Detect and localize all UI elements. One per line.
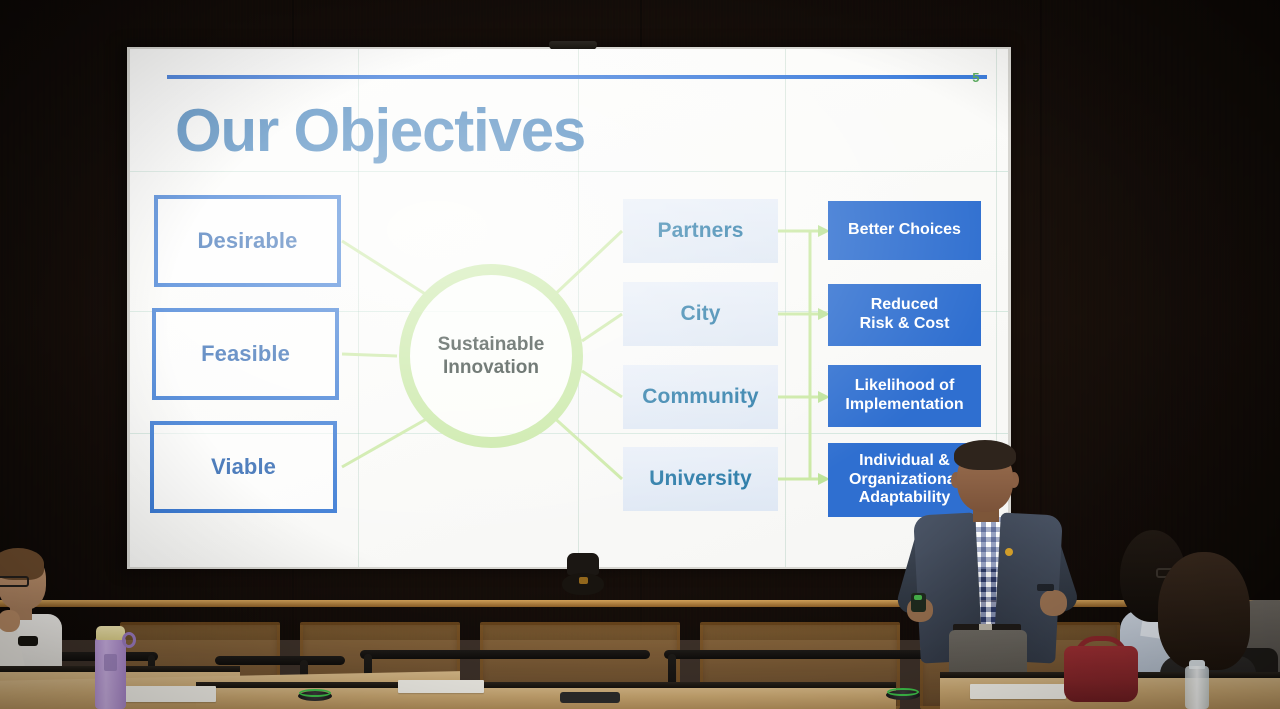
criteria-label: Desirable	[198, 228, 298, 254]
lapel-pin-icon	[1005, 548, 1013, 556]
bench-silhouette	[360, 650, 650, 659]
outcome-box-likelihood-implementation[interactable]: Likelihood ofImplementation	[828, 365, 981, 427]
wainscot-rail	[0, 600, 1280, 607]
handbag-icon	[1064, 646, 1138, 702]
criteria-box-feasible[interactable]: Feasible	[152, 308, 339, 400]
criteria-box-desirable[interactable]: Desirable	[154, 195, 341, 287]
bottle-label	[104, 654, 117, 671]
bottle-strap	[122, 632, 136, 648]
stakeholder-box-partners[interactable]: Partners	[623, 199, 778, 263]
stakeholder-label: City	[680, 302, 720, 326]
outcome-box-reduced-risk-cost[interactable]: ReducedRisk & Cost	[828, 284, 981, 346]
center-circle-sustainable-innovation[interactable]: Sustainable Innovation	[399, 264, 583, 448]
bench-silhouette	[664, 650, 944, 659]
audience-hand	[0, 610, 20, 632]
center-line-1: Sustainable	[438, 333, 545, 356]
stakeholder-box-community[interactable]: Community	[623, 365, 778, 429]
outcome-box-better-choices[interactable]: Better Choices	[828, 201, 981, 260]
wristwatch-icon	[1037, 584, 1054, 591]
microphone-led-ring	[299, 689, 331, 697]
audience-hair	[1158, 552, 1250, 670]
stakeholder-label: University	[649, 467, 752, 491]
stakeholder-label: Community	[642, 385, 758, 409]
bench-silhouette	[215, 656, 345, 665]
presentation-slide: 5 Our Objectives	[130, 49, 1008, 567]
wristwatch-icon	[18, 636, 38, 646]
presenter-hair	[954, 440, 1016, 470]
stakeholder-box-university[interactable]: University	[623, 447, 778, 511]
outcome-label: Better Choices	[848, 221, 961, 240]
phone-icon[interactable]	[560, 692, 620, 703]
bottle-cap	[96, 626, 125, 640]
water-bottle-icon	[1185, 666, 1209, 709]
clicker-led	[914, 595, 922, 600]
stakeholder-label: Partners	[657, 219, 743, 243]
water-bottle-icon	[95, 636, 126, 709]
criteria-box-viable[interactable]: Viable	[150, 421, 337, 513]
document-icon	[970, 684, 1066, 699]
conference-room-scene: 5 Our Objectives	[0, 0, 1280, 709]
eyeglasses-icon	[0, 576, 29, 587]
desk-edge	[196, 682, 896, 688]
presenter	[905, 438, 1070, 709]
outcome-label: Likelihood ofImplementation	[845, 377, 963, 414]
microphone-led-ring	[887, 688, 919, 696]
stakeholder-box-city[interactable]: City	[623, 282, 778, 346]
criteria-label: Viable	[211, 454, 276, 480]
video-conference-camera-icon	[560, 553, 606, 597]
center-line-2: Innovation	[443, 356, 539, 379]
document-icon	[120, 686, 216, 702]
criteria-label: Feasible	[201, 341, 290, 367]
presenter-right-hand	[1040, 590, 1067, 616]
document-icon	[398, 680, 484, 693]
outcome-label: ReducedRisk & Cost	[860, 296, 950, 333]
